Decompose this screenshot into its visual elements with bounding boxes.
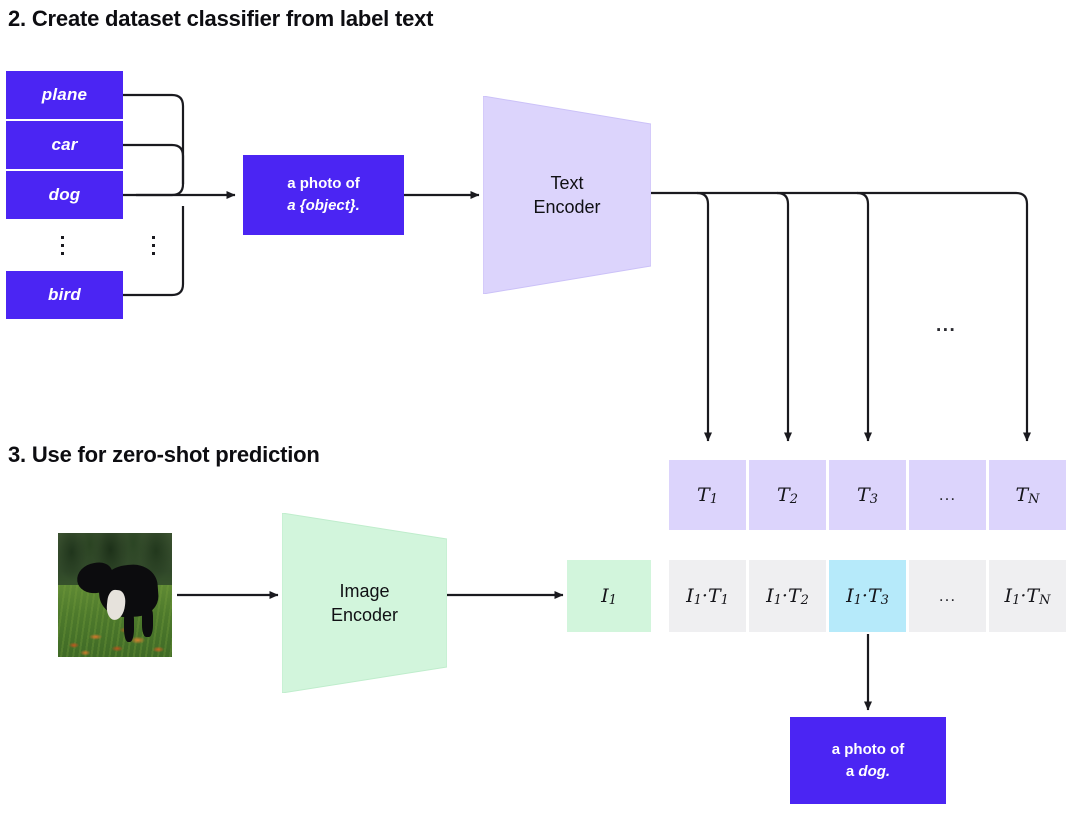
sim-t-sub: 1 bbox=[721, 593, 729, 608]
text-feature-sub: 2 bbox=[790, 492, 798, 507]
prediction-output-box[interactable]: a photo of a dog. bbox=[790, 717, 946, 804]
label-chip-text: car bbox=[51, 135, 77, 155]
label-chip-bird[interactable]: bird bbox=[6, 271, 123, 319]
similarity-cell-n[interactable]: I1·TN bbox=[989, 560, 1066, 632]
text-feature-base: T bbox=[777, 484, 790, 506]
text-feature-cell-2[interactable]: T2 bbox=[749, 460, 826, 530]
sim-i-sub: 1 bbox=[854, 593, 862, 608]
prediction-class: dog bbox=[858, 763, 886, 780]
sim-t: T bbox=[1026, 585, 1039, 607]
text-feature-ellipsis: ... bbox=[939, 485, 956, 505]
label-chip-car[interactable]: car bbox=[6, 121, 123, 169]
sim-i: I bbox=[1005, 585, 1013, 607]
image-encoder-label: Image Encoder bbox=[331, 579, 398, 628]
sim-i-sub: 1 bbox=[694, 593, 702, 608]
sim-t: T bbox=[708, 585, 721, 607]
label-chip-text: bird bbox=[48, 285, 81, 305]
label-chip-dog[interactable]: dog bbox=[6, 171, 123, 219]
text-encoder-block[interactable]: Text Encoder bbox=[483, 96, 651, 294]
text-feature-sub: 1 bbox=[710, 492, 718, 507]
label-chip-text: plane bbox=[42, 85, 87, 105]
prompt-template-box[interactable]: a photo of a {object}. bbox=[243, 155, 404, 235]
prediction-prefix: a bbox=[846, 763, 859, 780]
similarity-cell-2[interactable]: I1·T2 bbox=[749, 560, 826, 632]
image-feature-sub: 1 bbox=[609, 593, 617, 608]
sim-t-sub: 3 bbox=[881, 593, 889, 608]
prediction-suffix: . bbox=[886, 763, 890, 780]
prediction-line-1: a photo of bbox=[832, 739, 904, 761]
input-image-thumbnail[interactable] bbox=[58, 533, 172, 657]
sim-t: T bbox=[868, 585, 881, 607]
prompt-line-1: a photo of bbox=[287, 173, 359, 195]
sim-t-sub: 2 bbox=[801, 593, 809, 608]
text-feature-sub: 3 bbox=[870, 492, 878, 507]
prompt-line-2: a {object}. bbox=[287, 195, 360, 217]
text-feature-cell-1[interactable]: T1 bbox=[669, 460, 746, 530]
sim-t: T bbox=[788, 585, 801, 607]
similarity-cell-1[interactable]: I1·T1 bbox=[669, 560, 746, 632]
sim-i-sub: 1 bbox=[774, 593, 782, 608]
text-feature-cell-n[interactable]: TN bbox=[989, 460, 1066, 530]
diagram-canvas: 2. Create dataset classifier from label … bbox=[0, 0, 1070, 820]
text-feature-cell-3[interactable]: T3 bbox=[829, 460, 906, 530]
label-list-ellipsis-icon bbox=[57, 232, 67, 258]
sim-i: I bbox=[846, 585, 854, 607]
image-encoder-line-2: Encoder bbox=[331, 603, 398, 627]
similarity-cell-ellipsis: ... bbox=[909, 560, 986, 632]
image-feature-base: I bbox=[601, 585, 609, 607]
sim-ellipsis: ... bbox=[939, 586, 956, 606]
photo-leaves bbox=[58, 615, 172, 657]
label-chip-plane[interactable]: plane bbox=[6, 71, 123, 119]
text-encoder-line-1: Text bbox=[533, 171, 600, 195]
step2-heading: 2. Create dataset classifier from label … bbox=[8, 6, 433, 32]
text-feature-cell-ellipsis: ... bbox=[909, 460, 986, 530]
text-encoder-line-2: Encoder bbox=[533, 195, 600, 219]
text-encoder-label: Text Encoder bbox=[533, 171, 600, 220]
text-feature-base: T bbox=[697, 484, 710, 506]
similarity-cell-3-selected[interactable]: I1·T3 bbox=[829, 560, 906, 632]
sim-t-sub: N bbox=[1039, 593, 1050, 608]
prediction-line-2: a dog. bbox=[846, 761, 890, 783]
label-bus-ellipsis-icon bbox=[148, 232, 158, 258]
sim-i: I bbox=[766, 585, 774, 607]
text-feature-base: T bbox=[857, 484, 870, 506]
image-feature-cell[interactable]: I1 bbox=[567, 560, 651, 632]
step3-heading: 3. Use for zero-shot prediction bbox=[8, 442, 320, 468]
label-chip-text: dog bbox=[49, 185, 81, 205]
text-feature-base: T bbox=[1015, 484, 1028, 506]
text-feature-sub: N bbox=[1028, 492, 1039, 507]
image-encoder-block[interactable]: Image Encoder bbox=[282, 513, 447, 693]
sim-i-sub: 1 bbox=[1012, 593, 1020, 608]
fanout-ellipsis: ... bbox=[936, 315, 956, 337]
image-encoder-line-1: Image bbox=[331, 579, 398, 603]
sim-i: I bbox=[686, 585, 694, 607]
